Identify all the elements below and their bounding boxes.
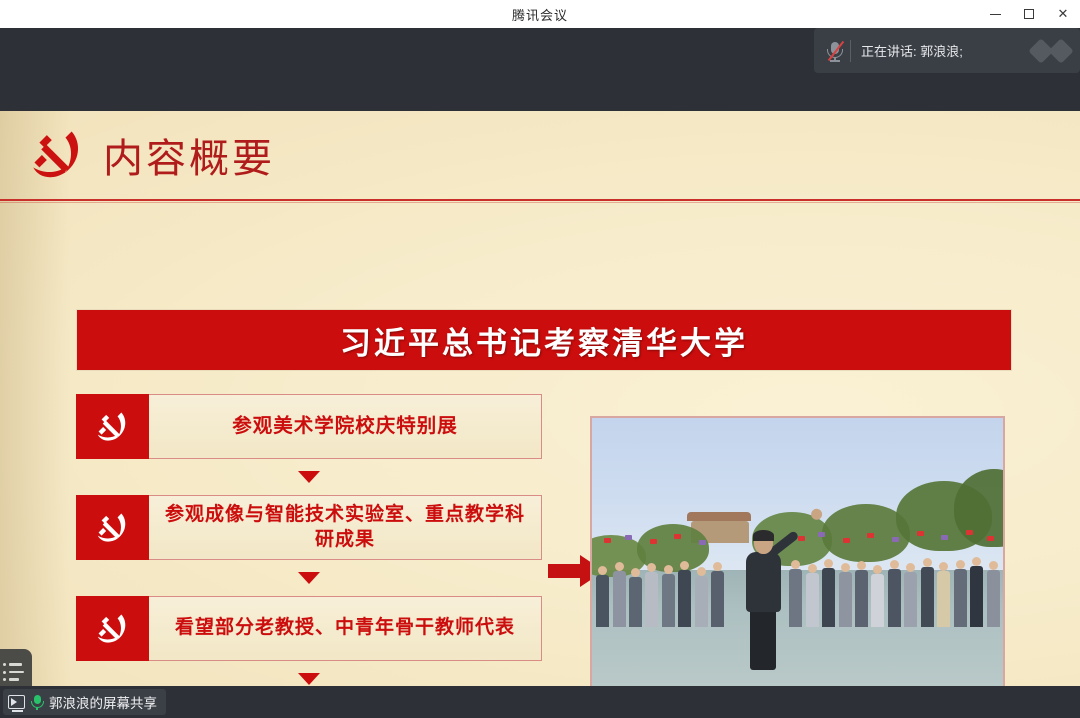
list-item-badge <box>76 596 149 661</box>
photo-main-figure <box>740 532 788 692</box>
photo-person <box>613 571 626 627</box>
photo-crowd <box>592 552 1003 626</box>
list-item-label: 看望部分老教授、中青年骨干教师代表 <box>175 616 515 640</box>
list-item-panel: 参观成像与智能技术实验室、重点教学科研成果 <box>149 495 542 560</box>
list-item[interactable]: 参观美术学院校庆特别展 <box>76 394 542 459</box>
chevron-down-separator <box>76 459 542 495</box>
slide-photo <box>590 416 1005 706</box>
photo-person <box>695 576 708 627</box>
photo-flag <box>941 535 948 540</box>
photo-flag <box>818 532 825 537</box>
window-controls: ✕ <box>978 0 1080 28</box>
photo-flag <box>892 537 899 542</box>
window-title-bar: 腾讯会议 ✕ <box>0 0 1080 28</box>
photo-person <box>645 572 658 627</box>
maximize-icon <box>1024 9 1034 19</box>
list-item-badge <box>76 495 149 560</box>
microphone-on-icon <box>30 694 44 710</box>
photo-person <box>904 572 917 627</box>
list-item-badge <box>76 394 149 459</box>
header-divider <box>0 199 1080 201</box>
photo-person <box>954 569 967 627</box>
chevron-down-icon <box>298 471 320 483</box>
hammer-and-sickle-icon <box>93 610 133 648</box>
window-title: 腾讯会议 <box>512 5 568 24</box>
close-icon: ✕ <box>1058 6 1069 22</box>
hammer-and-sickle-emblem-icon <box>25 124 91 186</box>
photo-flag <box>966 530 973 535</box>
meeting-app-frame: 正在讲话: 郭浪浪; 内容概要 习近平总书记考察清华大学 <box>0 28 1080 718</box>
list-icon <box>3 663 25 681</box>
chevron-down-icon <box>298 673 320 685</box>
hammer-and-sickle-icon <box>93 509 133 547</box>
page-title: 内容概要 <box>103 126 275 184</box>
photo-flag <box>625 535 632 540</box>
photo-flag <box>843 538 850 543</box>
maximize-button[interactable] <box>1012 0 1046 28</box>
photo-person <box>921 567 934 627</box>
photo-person <box>888 569 901 627</box>
photo-person <box>789 569 802 627</box>
photo-person <box>711 571 724 627</box>
photo-person <box>822 568 835 627</box>
photo-person <box>855 570 868 627</box>
photo-person <box>839 572 852 627</box>
photo-flag <box>699 540 706 545</box>
photo-person <box>678 570 691 627</box>
list-item-label: 参观成像与智能技术实验室、重点教学科研成果 <box>157 503 533 552</box>
list-item[interactable]: 看望部分老教授、中青年骨干教师代表 <box>76 596 542 661</box>
photo-flag <box>867 533 874 538</box>
photo-flag <box>798 536 805 541</box>
chevron-down-separator <box>76 560 542 596</box>
list-item-label: 参观美术学院校庆特别展 <box>232 414 458 439</box>
photo-person <box>806 573 819 627</box>
photo-flag <box>917 531 924 536</box>
hammer-and-sickle-icon <box>93 408 133 446</box>
screen-share-icon <box>8 695 25 709</box>
minimize-icon <box>990 14 1001 15</box>
photo-person <box>871 574 884 627</box>
tencent-meeting-logo-icon <box>1032 42 1070 60</box>
photo-person <box>596 575 609 627</box>
content-list: 参观美术学院校庆特别展 参观成像与智能技术实验室、重点教学科研成果 <box>76 394 542 714</box>
list-item-panel: 看望部分老教授、中青年骨干教师代表 <box>149 596 542 661</box>
speaking-label: 正在讲话: 郭浪浪; <box>861 41 1028 60</box>
photo-flag <box>604 538 611 543</box>
screen-share-status[interactable]: 郭浪浪的屏幕共享 <box>3 689 166 715</box>
header-divider-soft <box>0 202 1080 203</box>
badge-divider <box>850 40 851 62</box>
photo-flag <box>674 534 681 539</box>
slide-banner: 习近平总书记考察清华大学 <box>76 309 1012 371</box>
chevron-down-icon <box>298 572 320 584</box>
share-label: 郭浪浪的屏幕共享 <box>49 692 157 712</box>
speaking-indicator-badge[interactable]: 正在讲话: 郭浪浪; <box>814 28 1080 73</box>
banner-title: 习近平总书记考察清华大学 <box>340 318 748 363</box>
list-item-panel: 参观美术学院校庆特别展 <box>149 394 542 459</box>
photo-flag <box>987 536 994 541</box>
close-button[interactable]: ✕ <box>1046 0 1080 28</box>
photo-person <box>937 571 950 627</box>
microphone-muted-icon <box>824 38 846 64</box>
photo-person <box>629 577 642 627</box>
photo-flag <box>650 539 657 544</box>
shared-slide-canvas: 内容概要 习近平总书记考察清华大学 参观 <box>0 111 1080 714</box>
bottom-status-bar: 郭浪浪的屏幕共享 <box>0 686 1080 718</box>
photo-person <box>662 574 675 627</box>
photo-building-roof <box>687 512 751 521</box>
photo-person <box>970 566 983 627</box>
photo-person <box>987 570 1000 627</box>
list-item[interactable]: 参观成像与智能技术实验室、重点教学科研成果 <box>76 495 542 560</box>
slide-header: 内容概要 <box>0 111 1080 199</box>
minimize-button[interactable] <box>978 0 1012 28</box>
